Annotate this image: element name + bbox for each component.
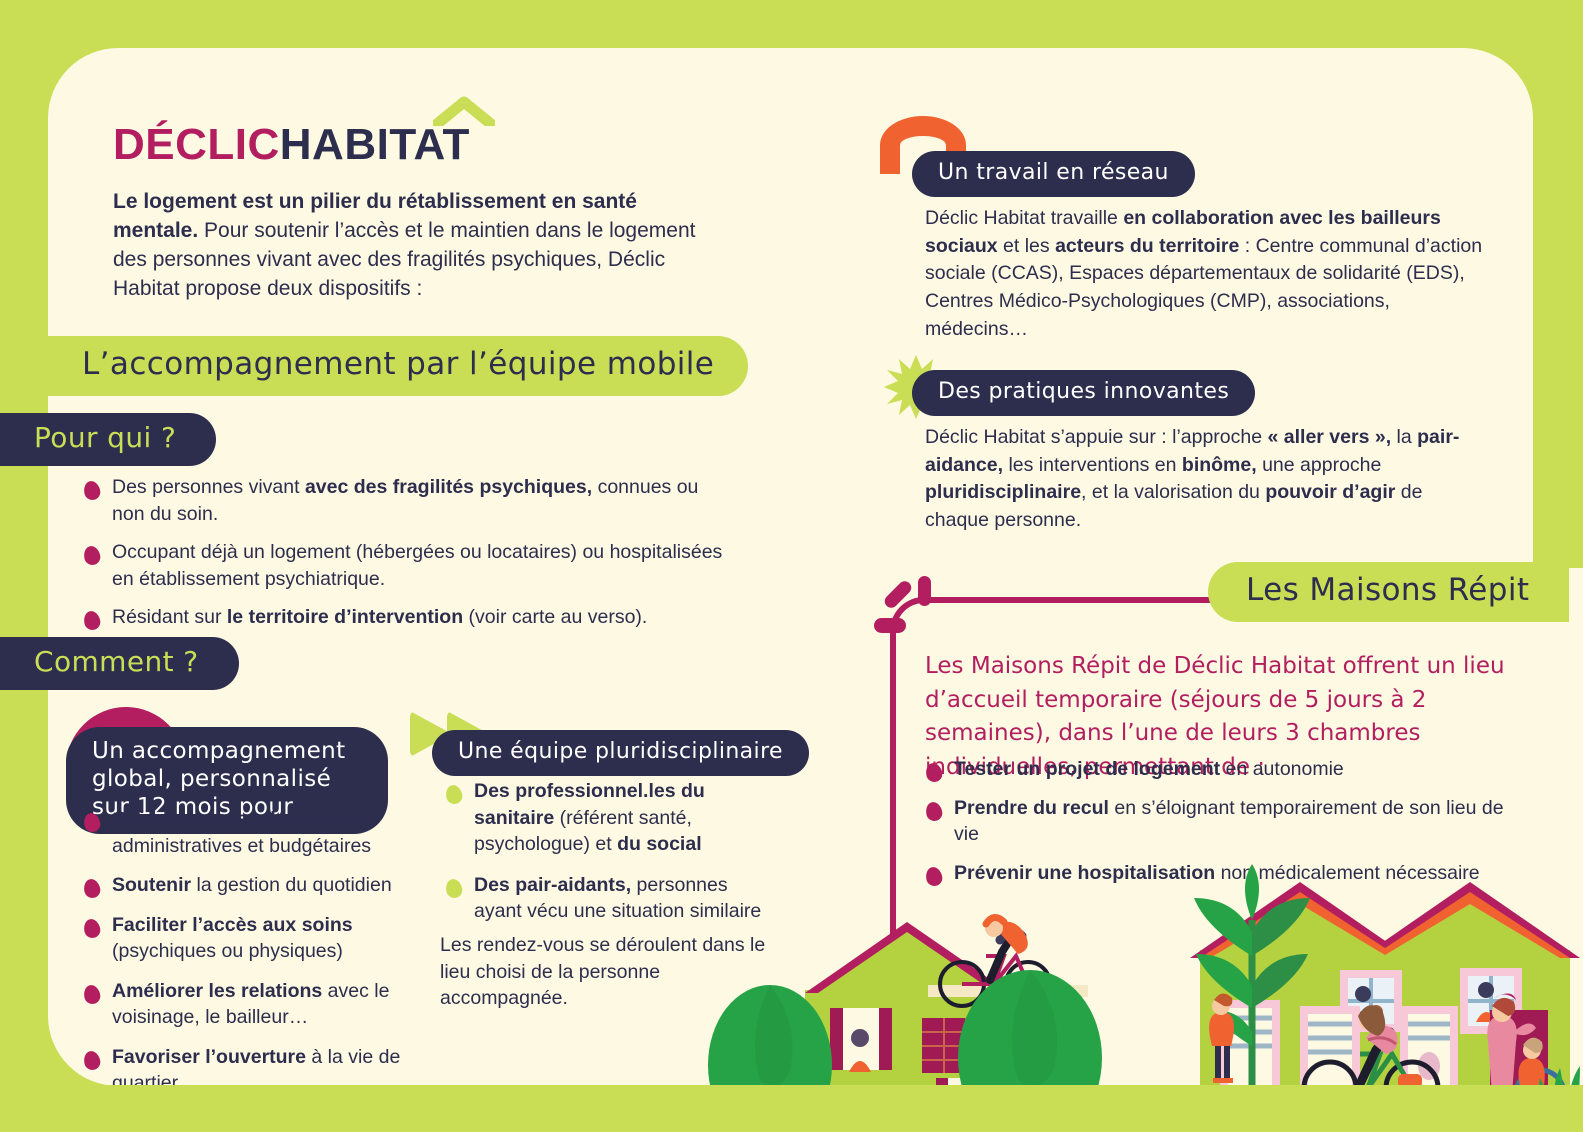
logo-habitat-text: HABITAT (280, 120, 470, 169)
subheading-equipe-pluridisciplinaire: Une équipe pluridisciplinaire (432, 730, 809, 776)
intro-paragraph: Le logement est un pilier du rétablissem… (113, 188, 723, 304)
section-title-text: L’accompagnement par l’équipe mobile (82, 346, 714, 382)
list-item: Des professionnel.les du sanitaire (réfé… (440, 778, 770, 858)
heading-pour-qui-text: Pour qui ? (34, 421, 176, 454)
heading-innovantes-text: Des pratiques innovantes (938, 379, 1229, 404)
heading-pratiques-innovantes: Des pratiques innovantes (912, 370, 1255, 416)
subheading-equipe-text: Une équipe pluridisciplinaire (458, 739, 783, 764)
heading-maisons-text: Les Maisons Répit (1246, 572, 1529, 608)
list-item: Des personnes vivant avec des fragilités… (78, 474, 728, 527)
roof-chevron-icon (433, 96, 495, 126)
ground-band (48, 1085, 1583, 1132)
heading-comment-text: Comment ? (34, 645, 199, 678)
heading-maisons-repit: Les Maisons Répit (1208, 562, 1569, 622)
list-item: Faciliter l’accès aux soins (psychiques … (78, 912, 438, 965)
list-item: Résidant sur le territoire d’interventio… (78, 604, 728, 631)
logo-declic-text: DÉCLIC (113, 120, 280, 169)
section-title-equipe-mobile: L’accompagnement par l’équipe mobile (48, 336, 748, 396)
list-accompagnement: Guider dans les démarches administrative… (78, 806, 438, 1110)
heading-reseau-text: Un travail en réseau (938, 160, 1169, 185)
list-item: Soutenir la gestion du quotidien (78, 872, 438, 899)
paragraph-reseau: Déclic Habitat travaille en collaboratio… (925, 205, 1490, 343)
list-item: Améliorer les relations avec le voisinag… (78, 978, 438, 1031)
list-item: Tester un projet de logement en autonomi… (920, 756, 1520, 783)
heading-travail-en-reseau: Un travail en réseau (912, 151, 1195, 197)
list-item: Prendre du recul en s’éloignant temporai… (920, 795, 1520, 848)
heading-pour-qui: Pour qui ? (0, 413, 216, 466)
list-pour-qui: Des personnes vivant avec des fragilités… (78, 474, 728, 643)
list-item: Occupant déjà un logement (hébergées ou … (78, 539, 728, 592)
heading-comment: Comment ? (0, 637, 239, 690)
intro-rest: Pour soutenir l’accès et le maintien dan… (113, 219, 695, 300)
paragraph-innovantes: Déclic Habitat s’appuie sur : l’approche… (925, 424, 1465, 535)
list-item: Guider dans les démarches administrative… (78, 806, 438, 859)
brand-logo: DÉCLICHABITAT (113, 120, 470, 170)
